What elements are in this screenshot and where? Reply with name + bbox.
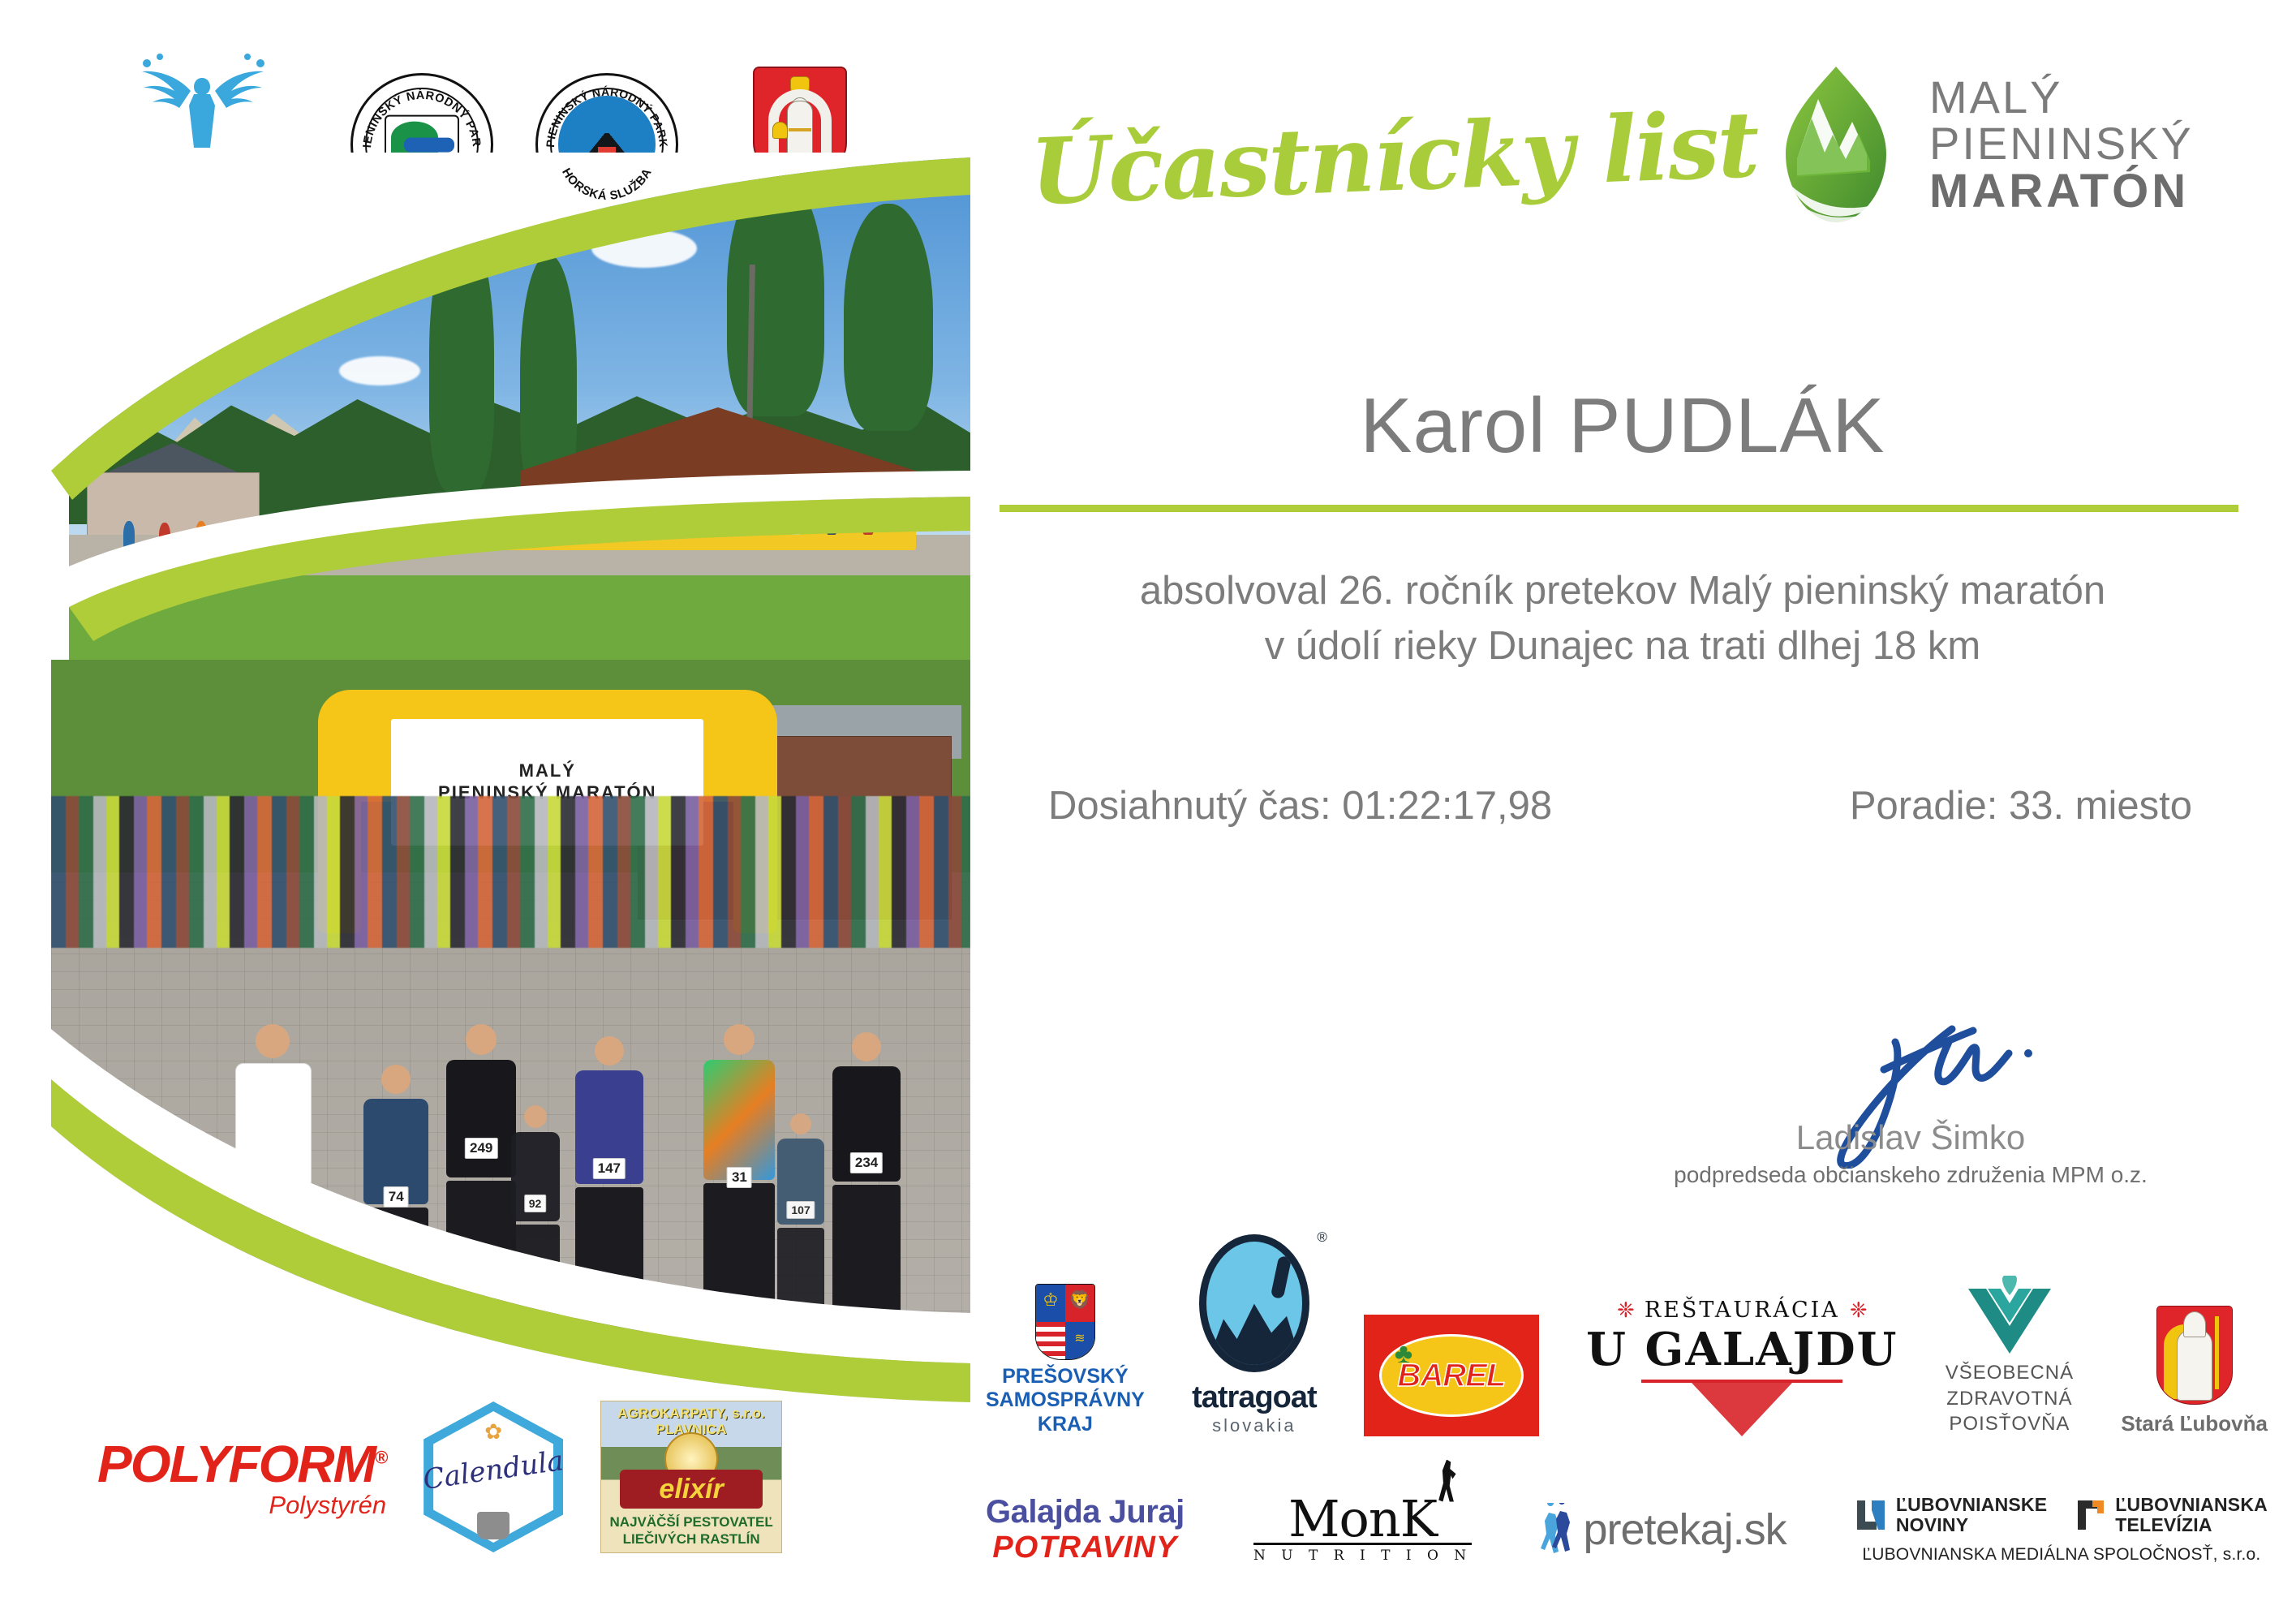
mpm-logo: MALÝ PIENINSKÝ MARATÓN <box>1765 63 2194 226</box>
ugalajdu-line1: REŠTAURÁCIA <box>1645 1298 1840 1323</box>
runner-figure: 107 <box>777 1113 824 1373</box>
sponsor-galajda-juraj: Galajda Juraj POTRAVINY <box>986 1494 1185 1565</box>
sponsor-row-left: POLYFORM® Polystyrén ✿ Calendula AGROKAR… <box>97 1380 990 1574</box>
elixir-name: elixír <box>659 1474 723 1505</box>
runner-bib: 74 <box>384 1186 409 1208</box>
barel-logo-icon: ♣ BAREL <box>1364 1315 1539 1436</box>
sponsor-restauracia-u-galajdu: ❈ REŠTAURÁCIA ❈ U GALAJDU <box>1586 1298 1898 1436</box>
horska-sluzba-seal-icon: PIENINSKÝ NÁRODNÝ PARK HORSKÁ SLUŽBA <box>535 73 678 216</box>
signatory-name: Ladislav Šimko <box>1671 1014 2150 1157</box>
svg-text:PIENINSKÝ NÁRODNÝ PARK: PIENINSKÝ NÁRODNÝ PARK <box>544 85 670 148</box>
runner-bib: 209 <box>256 1186 288 1208</box>
vszp-line1: VŠEOBECNÁ <box>1946 1360 2074 1385</box>
sponsor-agrokarpaty-elixir: AGROKARPATY, s.r.o. PLAVNICA elixír NAJV… <box>600 1401 782 1553</box>
mpm-logo-line1: MALÝ <box>1929 74 2194 120</box>
psk-line3: KRAJ <box>986 1413 1145 1437</box>
page-title: Účastnícky list <box>1029 92 1760 226</box>
lms-footer: ĽUBOVNIANSKA MEDIÁLNA SPOLOČNOSŤ, s.r.o. <box>1862 1545 2260 1565</box>
mpm-logo-line3: MARATÓN <box>1929 167 2194 215</box>
ln-logo-icon <box>1855 1499 1890 1531</box>
arch-banner-line1: MALÝ <box>519 760 576 782</box>
participant-description: absolvoval 26. ročník pretekov Malý pien… <box>1030 564 2215 674</box>
sponsor-stara-lubovna: Stará Ľubovňa <box>2121 1306 2268 1436</box>
logo-horska-sluzba: PIENINSKÝ NÁRODNÝ PARK HORSKÁ SLUŽBA <box>535 73 678 216</box>
ltv-logo-icon <box>2075 1499 2109 1531</box>
runner-figure: 249 <box>446 1024 516 1373</box>
ltv-line2: TELEVÍZIA <box>2115 1515 2268 1535</box>
participant-name: Karol PUDLÁK <box>1030 381 2215 471</box>
runner-figure: 234 <box>832 1032 901 1373</box>
stara-lubovna-coat-of-arms-icon <box>2156 1306 2233 1405</box>
psk-line1: PREŠOVSKÝ <box>986 1365 1145 1389</box>
vszp-line3: POISŤOVŇA <box>1946 1411 2074 1436</box>
marigold-flower-icon: ✿ <box>484 1419 502 1444</box>
leaf-mountain-icon <box>1765 63 1907 226</box>
monk-sub: N U T R I T I O N <box>1253 1548 1472 1564</box>
polyform-sub: Polystyrén <box>269 1491 386 1520</box>
ln-line1: ĽUBOVNIANSKE <box>1896 1495 2047 1515</box>
vszp-line2: ZDRAVOTNÁ <box>1946 1386 2074 1411</box>
sponsor-monk-nutrition: MonK N U T R I T I O N <box>1253 1496 1472 1565</box>
horska-ring-bottom: HORSKÁ SLUŽBA <box>559 166 655 203</box>
vszp-chevron-icon <box>1965 1276 2054 1354</box>
sponsor-row-2: Galajda Juraj POTRAVINY MonK N U T R I T… <box>986 1465 2268 1595</box>
results-row: Dosiahnutý čas: 01:22:17,98 Poradie: 33.… <box>1030 783 2223 829</box>
galajda-line1: Galajda Juraj <box>986 1494 1185 1530</box>
runner-pair-icon <box>1541 1503 1573 1556</box>
psk-coat-of-arms-icon: ♔ 🦁 ≋ <box>1035 1284 1095 1360</box>
folk-ornament-icon: ❈ <box>1617 1298 1635 1323</box>
pretekaj-name: pretekaj.sk <box>1583 1505 1786 1555</box>
runner-figure: 147 <box>575 1036 643 1373</box>
horska-ring-top: PIENINSKÝ NÁRODNÝ PARK <box>544 85 670 148</box>
finish-rank: Poradie: 33. miesto <box>1850 783 2223 829</box>
runner-figure: 209 <box>235 1024 310 1373</box>
psk-line2: SAMOSPRÁVNY <box>986 1388 1145 1413</box>
runner-figure: 74 <box>363 1065 428 1373</box>
agrokarpaty-bottom2: LIEČIVÝCH RASTLÍN <box>601 1530 781 1548</box>
runner-bib: 92 <box>524 1195 547 1212</box>
ugalajdu-line2: U GALAJDU <box>1586 1323 1898 1376</box>
monk-name: MonK <box>1288 1496 1437 1543</box>
sponsor-lubovnianska-medialna-spolocnost: ĽUBOVNIANSKE NOVINY ĽUBOVNIANSKA TELEVÍZ… <box>1855 1495 2268 1565</box>
runner-bib: 31 <box>727 1167 752 1188</box>
runner-bib: 234 <box>850 1152 883 1173</box>
ltv-line1: ĽUBOVNIANSKA <box>2115 1495 2268 1515</box>
runner-bib: 107 <box>786 1201 815 1219</box>
folk-ornament-icon: ❈ <box>1850 1298 1868 1323</box>
ln-line2: NOVINY <box>1896 1515 2047 1535</box>
sponsor-calendula: ✿ Calendula <box>424 1401 563 1552</box>
polyform-name: POLYFORM <box>97 1435 375 1493</box>
polyform-registered-mark: ® <box>375 1448 386 1468</box>
sponsor-row-1: ♔ 🦁 ≋ PREŠOVSKÝ SAMOSPRÁVNY KRAJ <box>986 1233 2268 1436</box>
sponsor-polyform: POLYFORM® Polystyrén <box>97 1434 386 1520</box>
sponsor-barel: ♣ BAREL <box>1364 1315 1539 1436</box>
sponsor-pretekaj-sk: pretekaj.sk <box>1541 1503 1786 1556</box>
mpm-logo-line2: PIENINSKÝ <box>1929 120 2194 166</box>
certificate-page: KÚPELE ČERVENÝ KLÁŠTOR Smerdžonka PIENIN… <box>0 0 2296 1623</box>
runner-figure: 31 <box>703 1024 775 1373</box>
green-divider-rule <box>1000 505 2238 512</box>
sponsor-vseobecna-zdravotna-poistovna: VŠEOBECNÁ ZDRAVOTNÁ POISŤOVŇA <box>1946 1276 2074 1436</box>
svg-text:HORSKÁ SLUŽBA: HORSKÁ SLUŽBA <box>559 166 655 203</box>
sponsor-presovsky-samospravny-kraj: ♔ 🦁 ≋ PREŠOVSKÝ SAMOSPRÁVNY KRAJ <box>986 1284 1145 1437</box>
mortar-pestle-icon <box>477 1512 510 1539</box>
clover-icon: ♣ <box>1395 1338 1412 1370</box>
runner-bib: 147 <box>593 1158 626 1179</box>
signature-block: Ladislav Šimko podpredseda občianskeho z… <box>1671 1014 2150 1188</box>
tatragoat-sub: slovakia <box>1212 1415 1296 1436</box>
stara-lubovna-caption: Stará Ľubovňa <box>2121 1411 2268 1436</box>
photo-amphitheatre <box>69 153 970 662</box>
sponsor-tatragoat: ® tatragoat slovakia <box>1192 1234 1317 1436</box>
tatragoat-name: tatragoat <box>1192 1380 1317 1415</box>
runner-figure: 92 <box>511 1105 560 1373</box>
photo-race-start: MALÝ PIENINSKÝ MARATÓN 209 74 <box>51 660 970 1419</box>
tatragoat-mountain-icon <box>1199 1234 1309 1372</box>
description-line2: v údolí rieky Dunajec na trati dlhej 18 … <box>1030 619 2215 674</box>
finish-time: Dosiahnutý čas: 01:22:17,98 <box>1030 783 1552 829</box>
barel-name: BAREL <box>1398 1358 1506 1394</box>
agrokarpaty-bottom1: NAJVÄČŠÍ PESTOVATEĽ <box>601 1513 781 1530</box>
angel-figure-icon <box>110 49 296 154</box>
description-line1: absolvoval 26. ročník pretekov Malý pien… <box>1030 564 2215 619</box>
running-monk-icon <box>1438 1460 1459 1502</box>
tatragoat-registered-mark: ® <box>1317 1229 1327 1246</box>
runner-bib: 249 <box>465 1138 497 1159</box>
galajda-line2: POTRAVINY <box>992 1530 1177 1565</box>
folk-pattern-icon <box>1692 1383 1792 1436</box>
signatory-role: podpredseda občianskeho združenia MPM o.… <box>1671 1162 2150 1188</box>
photo-column: MALÝ PIENINSKÝ MARATÓN 209 74 <box>51 153 970 1419</box>
